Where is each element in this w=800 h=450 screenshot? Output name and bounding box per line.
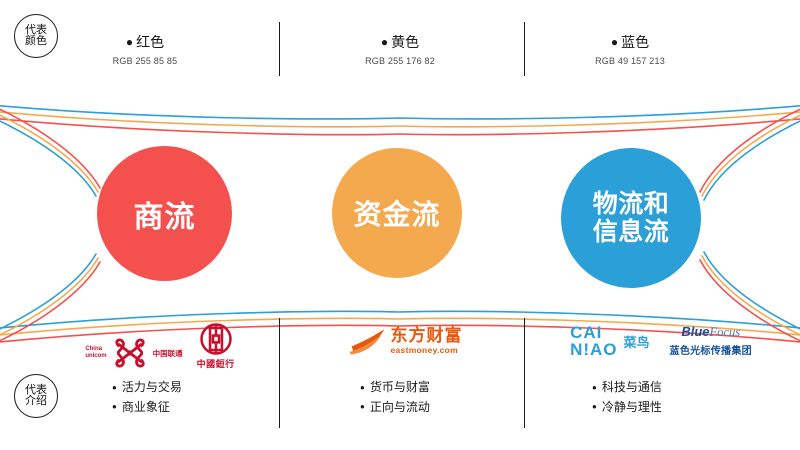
- list-item: 活力与交易: [112, 378, 182, 398]
- bullets-logistics: 科技与通信 冷静与理性: [592, 378, 662, 418]
- legend-red-name-row: ●红色: [55, 32, 235, 52]
- cainiao-cn-label: 菜鸟: [624, 332, 650, 351]
- circle-capital-flow: 资金流: [332, 148, 462, 278]
- eastmoney-cn-label: 东方财富: [391, 327, 463, 344]
- logo-bluefocus: BlueFocus 蓝色光标传播集团: [670, 325, 752, 357]
- circle-logistics-info-flow: 物流和 信息流: [561, 148, 701, 288]
- logo-row-right: CAI N!AO 菜鸟 BlueFocus 蓝色光标传播集团: [536, 312, 786, 370]
- bullet-dot-icon: ●: [611, 35, 618, 49]
- circle-logistics-label-line1: 物流和: [593, 190, 670, 218]
- legend-red-label: 红色: [136, 34, 164, 50]
- list-item: 商业象征: [112, 398, 182, 418]
- legend-color-blue: ●蓝色 RGB 49 157 213: [540, 32, 720, 66]
- stamp-intro-line2: 介绍: [25, 396, 47, 407]
- china-unicom-en-line1: China: [85, 346, 106, 354]
- logo-row-left: China unicom 中国联通: [60, 312, 260, 370]
- legend-color-yellow: ●黄色 RGB 255 176 82: [310, 32, 490, 66]
- bluefocus-cn-label: 蓝色光标传播集团: [670, 342, 752, 357]
- bluefocus-en-light: Focus: [710, 325, 741, 339]
- circle-logistics-info-flow-label: 物流和 信息流: [593, 190, 670, 246]
- legend-yellow-rgb: RGB 255 176 82: [310, 56, 490, 66]
- bluefocus-en-bold: Blue: [681, 324, 709, 339]
- circle-capital-flow-label: 资金流: [353, 193, 440, 233]
- circle-commerce-flow: 商流: [97, 146, 232, 281]
- china-unicom-knot-icon: [110, 336, 150, 370]
- bullet-dot-icon: ●: [126, 35, 133, 49]
- legend-blue-name-row: ●蓝色: [540, 32, 720, 52]
- logo-china-unicom: China unicom 中国联通: [85, 336, 182, 370]
- stamp-color-line2: 颜色: [25, 36, 47, 47]
- legend-yellow-label: 黄色: [391, 34, 419, 50]
- bullet-dot-icon: ●: [381, 35, 388, 49]
- eastmoney-wordmark: 东方财富 eastmoney.com: [391, 327, 463, 355]
- logo-cainiao: CAI N!AO 菜鸟: [570, 324, 649, 358]
- logo-eastmoney: 东方财富 eastmoney.com: [348, 326, 463, 356]
- divider-bottom-left: [279, 318, 280, 428]
- stamp-representative-intro: 代表 介绍: [14, 374, 58, 418]
- legend-blue-rgb: RGB 49 157 213: [540, 56, 720, 66]
- legend-yellow-name-row: ●黄色: [310, 32, 490, 52]
- bank-of-china-cn-label: 中國鋀行: [197, 357, 235, 370]
- cainiao-en-line2: N!AO: [570, 341, 617, 358]
- stamp-representative-color: 代表 颜色: [14, 14, 58, 58]
- list-item: 货币与财富: [360, 378, 430, 398]
- eastmoney-flame-icon: [348, 326, 388, 356]
- logo-bank-of-china: 中國鋀行: [197, 322, 235, 370]
- cainiao-en-line1: CAI: [570, 324, 602, 341]
- bullets-capital: 货币与财富 正向与流动: [360, 378, 430, 418]
- legend-color-red: ●红色 RGB 255 85 85: [55, 32, 235, 66]
- bluefocus-en-wordmark: BlueFocus: [681, 325, 740, 340]
- logo-row-middle: 东方财富 eastmoney.com: [300, 312, 510, 370]
- divider-top-right: [524, 22, 525, 76]
- bullets-commerce: 活力与交易 商业象征: [112, 378, 182, 418]
- eastmoney-en-label: eastmoney.com: [391, 345, 459, 355]
- circle-logistics-label-line2: 信息流: [593, 218, 670, 246]
- legend-blue-label: 蓝色: [621, 34, 649, 50]
- china-unicom-cn-label: 中国联通: [153, 348, 183, 359]
- bank-of-china-icon: [199, 322, 233, 356]
- list-item: 正向与流动: [360, 398, 430, 418]
- china-unicom-en-line2: unicom: [85, 353, 106, 361]
- infographic-canvas: 代表 颜色 代表 介绍 ●红色 RGB 255 85 85 ●黄色 RGB 25…: [0, 0, 800, 450]
- list-item: 冷静与理性: [592, 398, 662, 418]
- legend-red-rgb: RGB 255 85 85: [55, 56, 235, 66]
- circle-commerce-flow-label: 商流: [134, 192, 196, 236]
- china-unicom-wordmark: China unicom: [85, 346, 106, 361]
- divider-top-left: [279, 22, 280, 76]
- divider-bottom-right: [524, 318, 525, 428]
- list-item: 科技与通信: [592, 378, 662, 398]
